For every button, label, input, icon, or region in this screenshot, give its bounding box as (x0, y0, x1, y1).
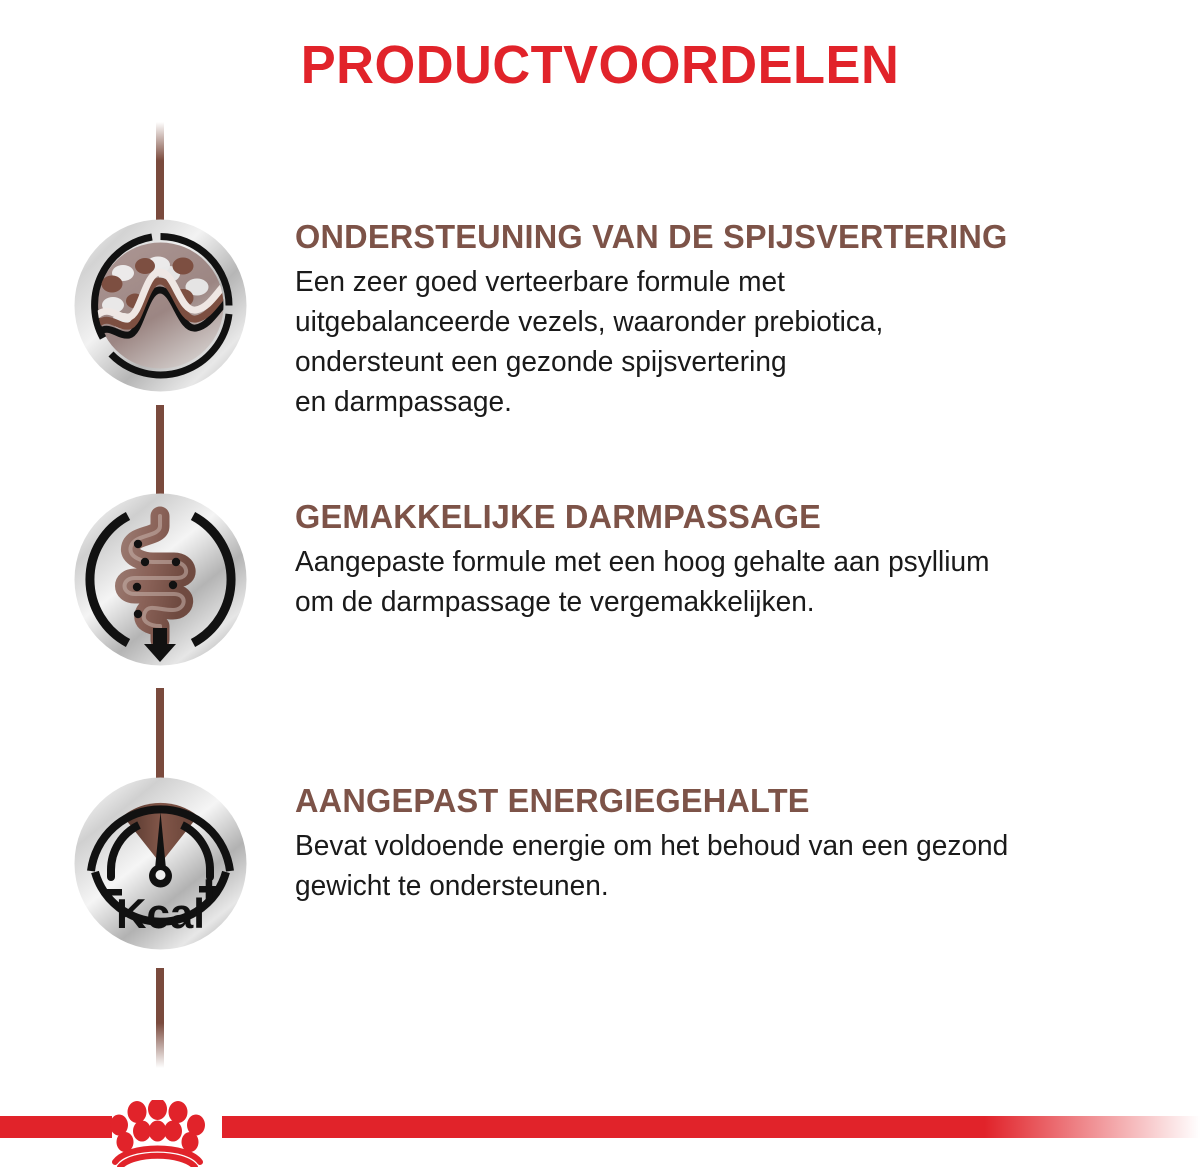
page-title: PRODUCTVOORDELEN (18, 34, 1182, 96)
benefit-body-line: Aangepaste formule met een hoog gehalte … (295, 542, 1186, 582)
footer-bar-right (222, 1116, 1200, 1138)
benefit-body-line: gewicht te ondersteunen. (295, 866, 1186, 906)
connector-line-bottom (156, 968, 164, 1068)
connector-line-2 (156, 688, 164, 780)
connector-line-1 (156, 405, 164, 497)
benefit-body: Bevat voldoende energie om het behoud va… (295, 826, 1186, 906)
benefit-body-line: Een zeer goed verteerbare formule met (295, 262, 1186, 302)
benefit-body-line: om de darmpassage te vergemakkelijken. (295, 582, 1186, 622)
benefit-body: Aangepaste formule met een hoog gehalte … (295, 542, 1186, 622)
benefit-body-line: Bevat voldoende energie om het behoud va… (295, 826, 1186, 866)
benefit-heading: GEMAKKELIJKE DARMPASSAGE (295, 498, 1186, 536)
connector-line-top (156, 122, 164, 224)
kcal-gauge-icon: Kcal (73, 776, 248, 951)
benefit-text-energy-content: AANGEPAST ENERGIEGEHALTE Bevat voldoende… (295, 782, 1200, 906)
benefit-body: Een zeer goed verteerbare formule met ui… (295, 262, 1186, 422)
benefit-body-line: en darmpassage. (295, 382, 1186, 422)
kcal-label: Kcal (116, 890, 205, 937)
product-benefits-page: PRODUCTVOORDELEN (0, 0, 1200, 1167)
benefit-text-digestive-support: ONDERSTEUNING VAN DE SPIJSVERTERING Een … (295, 218, 1200, 422)
benefit-heading: ONDERSTEUNING VAN DE SPIJSVERTERING (295, 218, 1186, 256)
benefit-text-intestinal-transit: GEMAKKELIJKE DARMPASSAGE Aangepaste form… (295, 498, 1200, 622)
digestive-support-icon (73, 218, 248, 393)
intestinal-transit-icon (73, 492, 248, 667)
benefit-heading: AANGEPAST ENERGIEGEHALTE (295, 782, 1186, 820)
royal-canin-crown-logo (90, 1100, 225, 1167)
benefit-body-line: uitgebalanceerde vezels, waaronder prebi… (295, 302, 1186, 342)
benefit-body-line: ondersteunt een gezonde spijsvertering (295, 342, 1186, 382)
